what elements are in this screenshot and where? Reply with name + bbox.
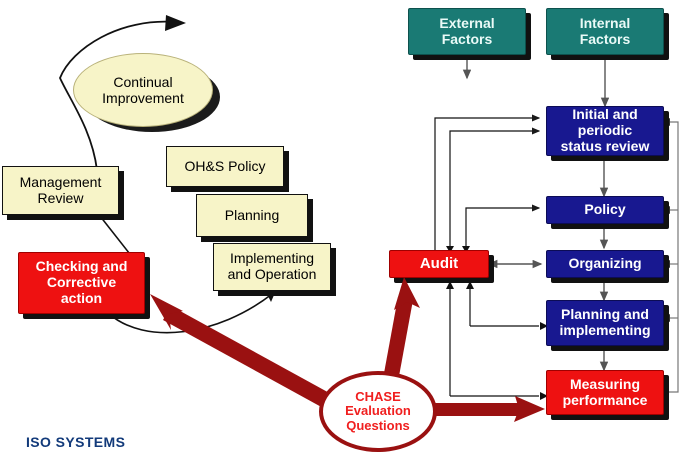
internal-factors-line1: Internal xyxy=(580,15,631,31)
policy-box[interactable]: Policy xyxy=(546,196,664,224)
chase-line3: Questions xyxy=(346,418,410,433)
status-review-line3: status review xyxy=(561,138,650,154)
implementing-and-operation-box[interactable]: Implementing and Operation xyxy=(213,243,331,291)
checking-line1: Checking and xyxy=(36,258,128,274)
planning-box[interactable]: Planning xyxy=(196,194,308,237)
planning-implementing-line2: implementing xyxy=(559,322,650,338)
checking-and-corrective-action-box[interactable]: Checking and Corrective action xyxy=(18,252,145,314)
diagram-canvas: Continual Improvement Management Review … xyxy=(0,0,685,473)
chase-line1: CHASE xyxy=(355,389,401,404)
continual-improvement-line2: Improvement xyxy=(102,90,184,106)
management-review-box[interactable]: Management Review xyxy=(2,166,119,215)
initial-and-periodic-status-review-box[interactable]: Initial and periodic status review xyxy=(546,106,664,156)
organizing-box[interactable]: Organizing xyxy=(546,250,664,278)
checking-line2: Corrective xyxy=(47,274,116,290)
planning-label: Planning xyxy=(197,208,307,224)
iso-systems-brand-label: ISO SYSTEMS xyxy=(26,434,125,450)
planning-and-implementing-box[interactable]: Planning and implementing xyxy=(546,300,664,346)
internal-factors-line2: Factors xyxy=(580,31,631,47)
audit-box[interactable]: Audit xyxy=(389,250,489,278)
implementing-line2: and Operation xyxy=(228,266,317,282)
ohs-policy-label: OH&S Policy xyxy=(167,159,283,175)
measuring-line2: performance xyxy=(563,392,648,408)
status-review-line2: periodic xyxy=(578,122,632,138)
ohs-policy-box[interactable]: OH&S Policy xyxy=(166,146,284,187)
policy-label: Policy xyxy=(547,202,663,218)
implementing-line1: Implementing xyxy=(230,250,314,266)
planning-implementing-line1: Planning and xyxy=(561,306,649,322)
continual-improvement-node[interactable]: Continual Improvement xyxy=(73,53,213,127)
chase-line2: Evaluation xyxy=(345,403,411,418)
internal-factors-box[interactable]: Internal Factors xyxy=(546,8,664,55)
external-factors-line1: External xyxy=(439,15,494,31)
right-return-loop xyxy=(668,122,678,392)
checking-line3: action xyxy=(61,290,102,306)
audit-label: Audit xyxy=(390,256,488,273)
chase-to-checking-arrow xyxy=(150,294,333,409)
continual-improvement-line1: Continual xyxy=(113,74,172,90)
management-review-line2: Review xyxy=(38,190,84,206)
measuring-performance-box[interactable]: Measuring performance xyxy=(546,370,664,415)
status-review-line1: Initial and xyxy=(572,106,637,122)
external-factors-line2: Factors xyxy=(442,31,493,47)
organizing-label: Organizing xyxy=(547,256,663,272)
audit-feedback-up xyxy=(435,118,539,252)
audit-bottom-arrowheads xyxy=(446,281,548,400)
management-review-line1: Management xyxy=(20,174,102,190)
chase-evaluation-questions-node[interactable]: CHASE Evaluation Questions xyxy=(319,371,437,452)
external-factors-box[interactable]: External Factors xyxy=(408,8,526,55)
measuring-line1: Measuring xyxy=(570,376,640,392)
audit-feedback-bottom xyxy=(450,283,539,396)
